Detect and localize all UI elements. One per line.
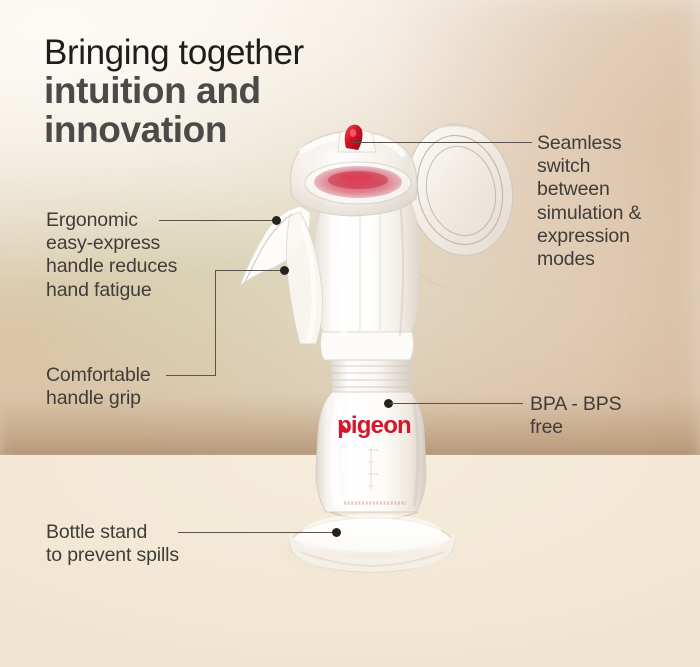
headline-line-1: Bringing together xyxy=(44,34,444,71)
callout-ergonomic-handle: Ergonomic easy-express handle reduces ha… xyxy=(46,209,221,302)
leader-line-seamless-switch xyxy=(354,142,532,143)
callout-comfortable-grip: Comfortable handle grip xyxy=(46,364,216,410)
leader-line-comfortable-grip-vertical xyxy=(215,270,216,376)
callout-seamless-switch: Seamless switch between simulation & exp… xyxy=(537,132,687,271)
infographic-canvas: pigeon Bringing together intuition and i… xyxy=(0,0,700,667)
page-headline: Bringing together intuition and innovati… xyxy=(44,34,444,150)
bottle xyxy=(316,360,426,520)
leader-line-comfortable-grip-horizontal xyxy=(215,270,283,271)
callout-bottle-stand: Bottle stand to prevent spills xyxy=(46,521,246,567)
callout-bpa-bps-free: BPA - BPS free xyxy=(530,393,680,439)
headline-line-3: innovation xyxy=(44,110,444,149)
brand-logo-pigeon: pigeon xyxy=(337,412,411,439)
leader-dot-comfortable-grip xyxy=(280,266,289,275)
bottle-stand xyxy=(290,514,454,572)
leader-dot-bottle-stand xyxy=(332,528,341,537)
svg-text:pigeon: pigeon xyxy=(337,412,411,439)
headline-line-2: intuition and xyxy=(44,71,444,110)
leader-dot-ergonomic-handle xyxy=(272,216,281,225)
pump-handle-lever xyxy=(240,206,322,344)
leader-line-bpa-bps-free xyxy=(390,403,523,404)
